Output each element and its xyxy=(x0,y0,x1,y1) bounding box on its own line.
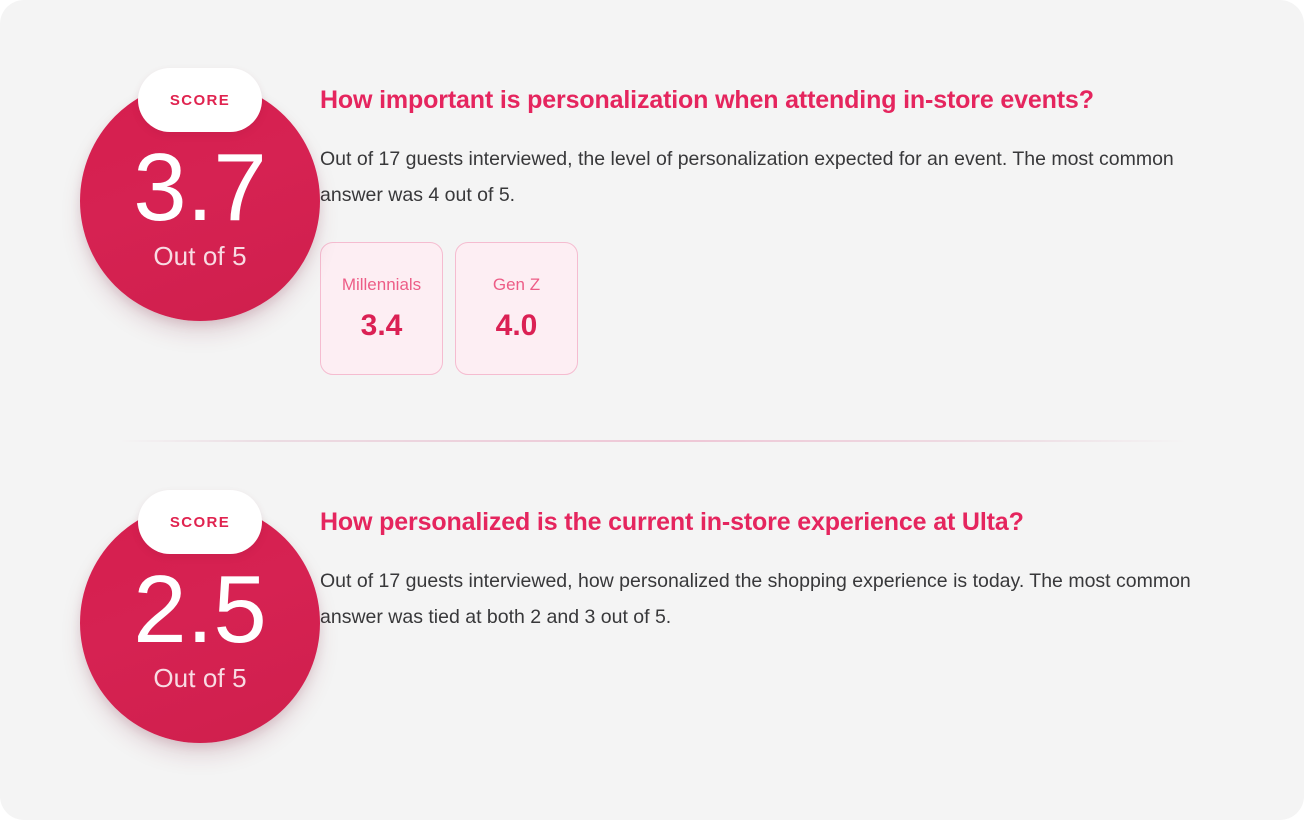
score-suffix-1: Out of 5 xyxy=(153,241,246,272)
breakdown-card-millennials: Millennials 3.4 xyxy=(320,242,443,375)
score-badge-label-1: SCORE xyxy=(170,92,230,109)
score-section-1: 3.7 Out of 5 SCORE How important is pers… xyxy=(0,56,1304,375)
question-headline-1: How important is personalization when at… xyxy=(320,85,1244,115)
question-description-1: Out of 17 guests interviewed, the level … xyxy=(320,141,1200,213)
score-text-column-1: How important is personalization when at… xyxy=(320,56,1304,375)
breakdown-label-gen-z: Gen Z xyxy=(493,276,540,293)
score-value-1: 3.7 xyxy=(133,144,266,232)
section-divider xyxy=(118,440,1188,442)
score-suffix-2: Out of 5 xyxy=(153,663,246,694)
score-value-2: 2.5 xyxy=(133,566,266,654)
question-headline-2: How personalized is the current in-store… xyxy=(320,507,1244,537)
breakdown-card-group: Millennials 3.4 Gen Z 4.0 xyxy=(320,242,1244,375)
breakdown-label-millennials: Millennials xyxy=(342,276,421,293)
score-badge-label-2: SCORE xyxy=(170,514,230,531)
breakdown-card-gen-z: Gen Z 4.0 xyxy=(455,242,578,375)
score-circle-wrapper-1: 3.7 Out of 5 SCORE xyxy=(0,56,320,356)
score-circle-wrapper-2: 2.5 Out of 5 SCORE xyxy=(0,478,320,778)
score-badge-2: SCORE xyxy=(138,490,262,554)
question-description-2: Out of 17 guests interviewed, how person… xyxy=(320,563,1200,635)
infographic-canvas: 3.7 Out of 5 SCORE How important is pers… xyxy=(0,0,1304,820)
breakdown-value-gen-z: 4.0 xyxy=(496,311,538,341)
score-section-2: 2.5 Out of 5 SCORE How personalized is t… xyxy=(0,478,1304,778)
breakdown-value-millennials: 3.4 xyxy=(361,311,403,341)
score-badge-1: SCORE xyxy=(138,68,262,132)
score-text-column-2: How personalized is the current in-store… xyxy=(320,478,1304,635)
